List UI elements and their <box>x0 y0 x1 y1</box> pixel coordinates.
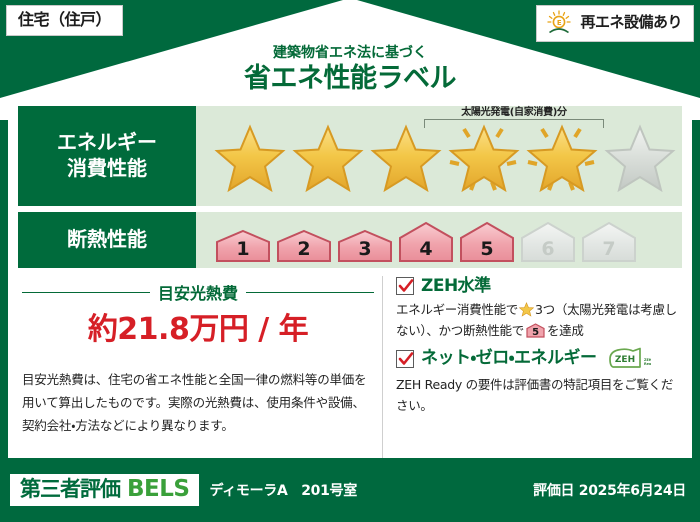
label-body-panel: エネルギー 消費性能 太陽光発電(自家消費)分 <box>8 98 692 458</box>
svg-text:Ready: Ready <box>644 362 651 366</box>
insulation-level-5: 5 <box>458 221 516 263</box>
energy-performance-row: エネルギー 消費性能 太陽光発電(自家消費)分 <box>18 106 682 206</box>
utility-cost-amount: 約21.8万円 / 年 <box>22 313 374 346</box>
renewable-energy-tag: E 再エネ設備あり <box>536 5 694 42</box>
insulation-level-scale: 1 2 3 <box>196 212 638 268</box>
energy-star-rating <box>196 118 678 200</box>
star-filled-2 <box>288 118 366 200</box>
utility-cost-heading-label: 目安光熱費 <box>158 280 238 304</box>
bels-badge: 第三者評価 BELS <box>10 474 199 506</box>
zeh-ready-logo-icon: ZEH ZEH Ready <box>607 347 651 371</box>
insulation-rating-area: 1 2 3 <box>196 212 682 268</box>
star-filled-solar-4 <box>444 118 522 200</box>
insulation-level-7-number: 7 <box>580 240 638 259</box>
star-filled-1 <box>210 118 288 200</box>
insulation-level-4: 4 <box>397 221 455 263</box>
energy-rating-area: 太陽光発電(自家消費)分 <box>196 106 682 206</box>
energy-label-line2: 消費性能 <box>67 156 147 182</box>
star-filled-solar-5 <box>522 118 600 200</box>
star-filled-3 <box>366 118 444 200</box>
star-empty-6 <box>600 118 678 200</box>
insulation-level-5-number: 5 <box>458 240 516 259</box>
utility-cost-heading: 目安光熱費 <box>22 280 374 304</box>
check-icon <box>398 351 414 367</box>
heading-rule-left <box>22 292 150 293</box>
solar-bracket-label: 太陽光発電(自家消費)分 <box>424 107 604 118</box>
renewable-energy-tag-label: 再エネ設備あり <box>580 14 682 31</box>
inline-star-icon <box>519 302 534 317</box>
insulation-level-3: 3 <box>336 229 394 263</box>
title-subtitle: 建築物省エネ法に基づく <box>0 42 700 62</box>
net-zero-energy-header: ネット・ゼロ・エネルギー ZEH ZEH Ready <box>396 347 682 371</box>
insulation-level-2-number: 2 <box>275 240 333 259</box>
bels-third-party-label: 第三者評価 <box>20 478 120 501</box>
utility-cost-note: 目安光熱費は、住宅の省エネ性能と全国一律の燃料等の単価を用いて算出したものです。… <box>22 368 374 437</box>
insulation-level-4-number: 4 <box>397 240 455 259</box>
footer: 第三者評価 BELS ディモーラA 201号室 評価日 2025年6月24日 <box>0 458 700 522</box>
zeh-standard-checkbox[interactable] <box>396 277 414 295</box>
insulation-performance-row: 断熱性能 <box>18 212 682 268</box>
insulation-level-6: 6 <box>519 221 577 263</box>
lower-section: 目安光熱費 約21.8万円 / 年 目安光熱費は、住宅の省エネ性能と全国一律の燃… <box>18 276 682 458</box>
category-tag: 住宅（住戸） <box>6 5 123 36</box>
inline-insulation-badge: 5 <box>526 323 545 338</box>
insulation-performance-label: 断熱性能 <box>18 212 196 268</box>
insulation-level-3-number: 3 <box>336 240 394 259</box>
net-zero-energy-body: ZEH Ready の要件は評価書の特記項目をご覧ください。 <box>396 374 682 417</box>
page-title: 省エネ性能ラベル <box>0 63 700 94</box>
evaluation-date: 評価日 2025年6月24日 <box>533 480 686 500</box>
unit-name: ディモーラA 201号室 <box>209 480 356 500</box>
check-icon <box>398 278 414 294</box>
zeh-standard-body-part1: エネルギー消費性能で <box>396 302 518 317</box>
net-zero-energy-item: ネット・ゼロ・エネルギー ZEH ZEH Ready ZEH Ready の要件… <box>396 347 682 417</box>
net-zero-energy-title: ネット・ゼロ・エネルギー <box>421 349 597 368</box>
insulation-level-1-number: 1 <box>214 240 272 259</box>
energy-label-line1: エネルギー <box>57 130 157 156</box>
energy-performance-label: 住宅（住戸） E 再エネ設備あり 建築物省エネ法に基づく 省エネ性能ラベル <box>0 0 700 522</box>
zeh-column: ZEH水準 エネルギー消費性能で3つ（太陽光発電は考慮しない）、かつ断熱性能で5… <box>382 276 682 458</box>
zeh-standard-item: ZEH水準 エネルギー消費性能で3つ（太陽光発電は考慮しない）、かつ断熱性能で5… <box>396 277 682 342</box>
insulation-level-7: 7 <box>580 221 638 263</box>
heading-rule-right <box>246 292 374 293</box>
zeh-standard-title: ZEH水準 <box>421 277 491 296</box>
zeh-standard-header: ZEH水準 <box>396 277 682 296</box>
utility-cost-column: 目安光熱費 約21.8万円 / 年 目安光熱費は、住宅の省エネ性能と全国一律の燃… <box>18 276 382 458</box>
inline-insulation-badge-number: 5 <box>526 328 545 338</box>
title-block: 建築物省エネ法に基づく 省エネ性能ラベル <box>0 42 700 94</box>
svg-text:E: E <box>557 19 562 27</box>
zeh-standard-body-part3: を達成 <box>547 323 584 338</box>
insulation-level-6-number: 6 <box>519 240 577 259</box>
energy-performance-label: エネルギー 消費性能 <box>18 106 196 206</box>
solar-sun-icon: E <box>545 10 573 36</box>
bels-logo-text: BELS <box>127 477 189 502</box>
svg-text:ZEH: ZEH <box>614 355 634 365</box>
insulation-level-1: 1 <box>214 229 272 263</box>
net-zero-energy-checkbox[interactable] <box>396 350 414 368</box>
zeh-standard-body: エネルギー消費性能で3つ（太陽光発電は考慮しない）、かつ断熱性能で5を達成 <box>396 299 682 342</box>
insulation-level-2: 2 <box>275 229 333 263</box>
